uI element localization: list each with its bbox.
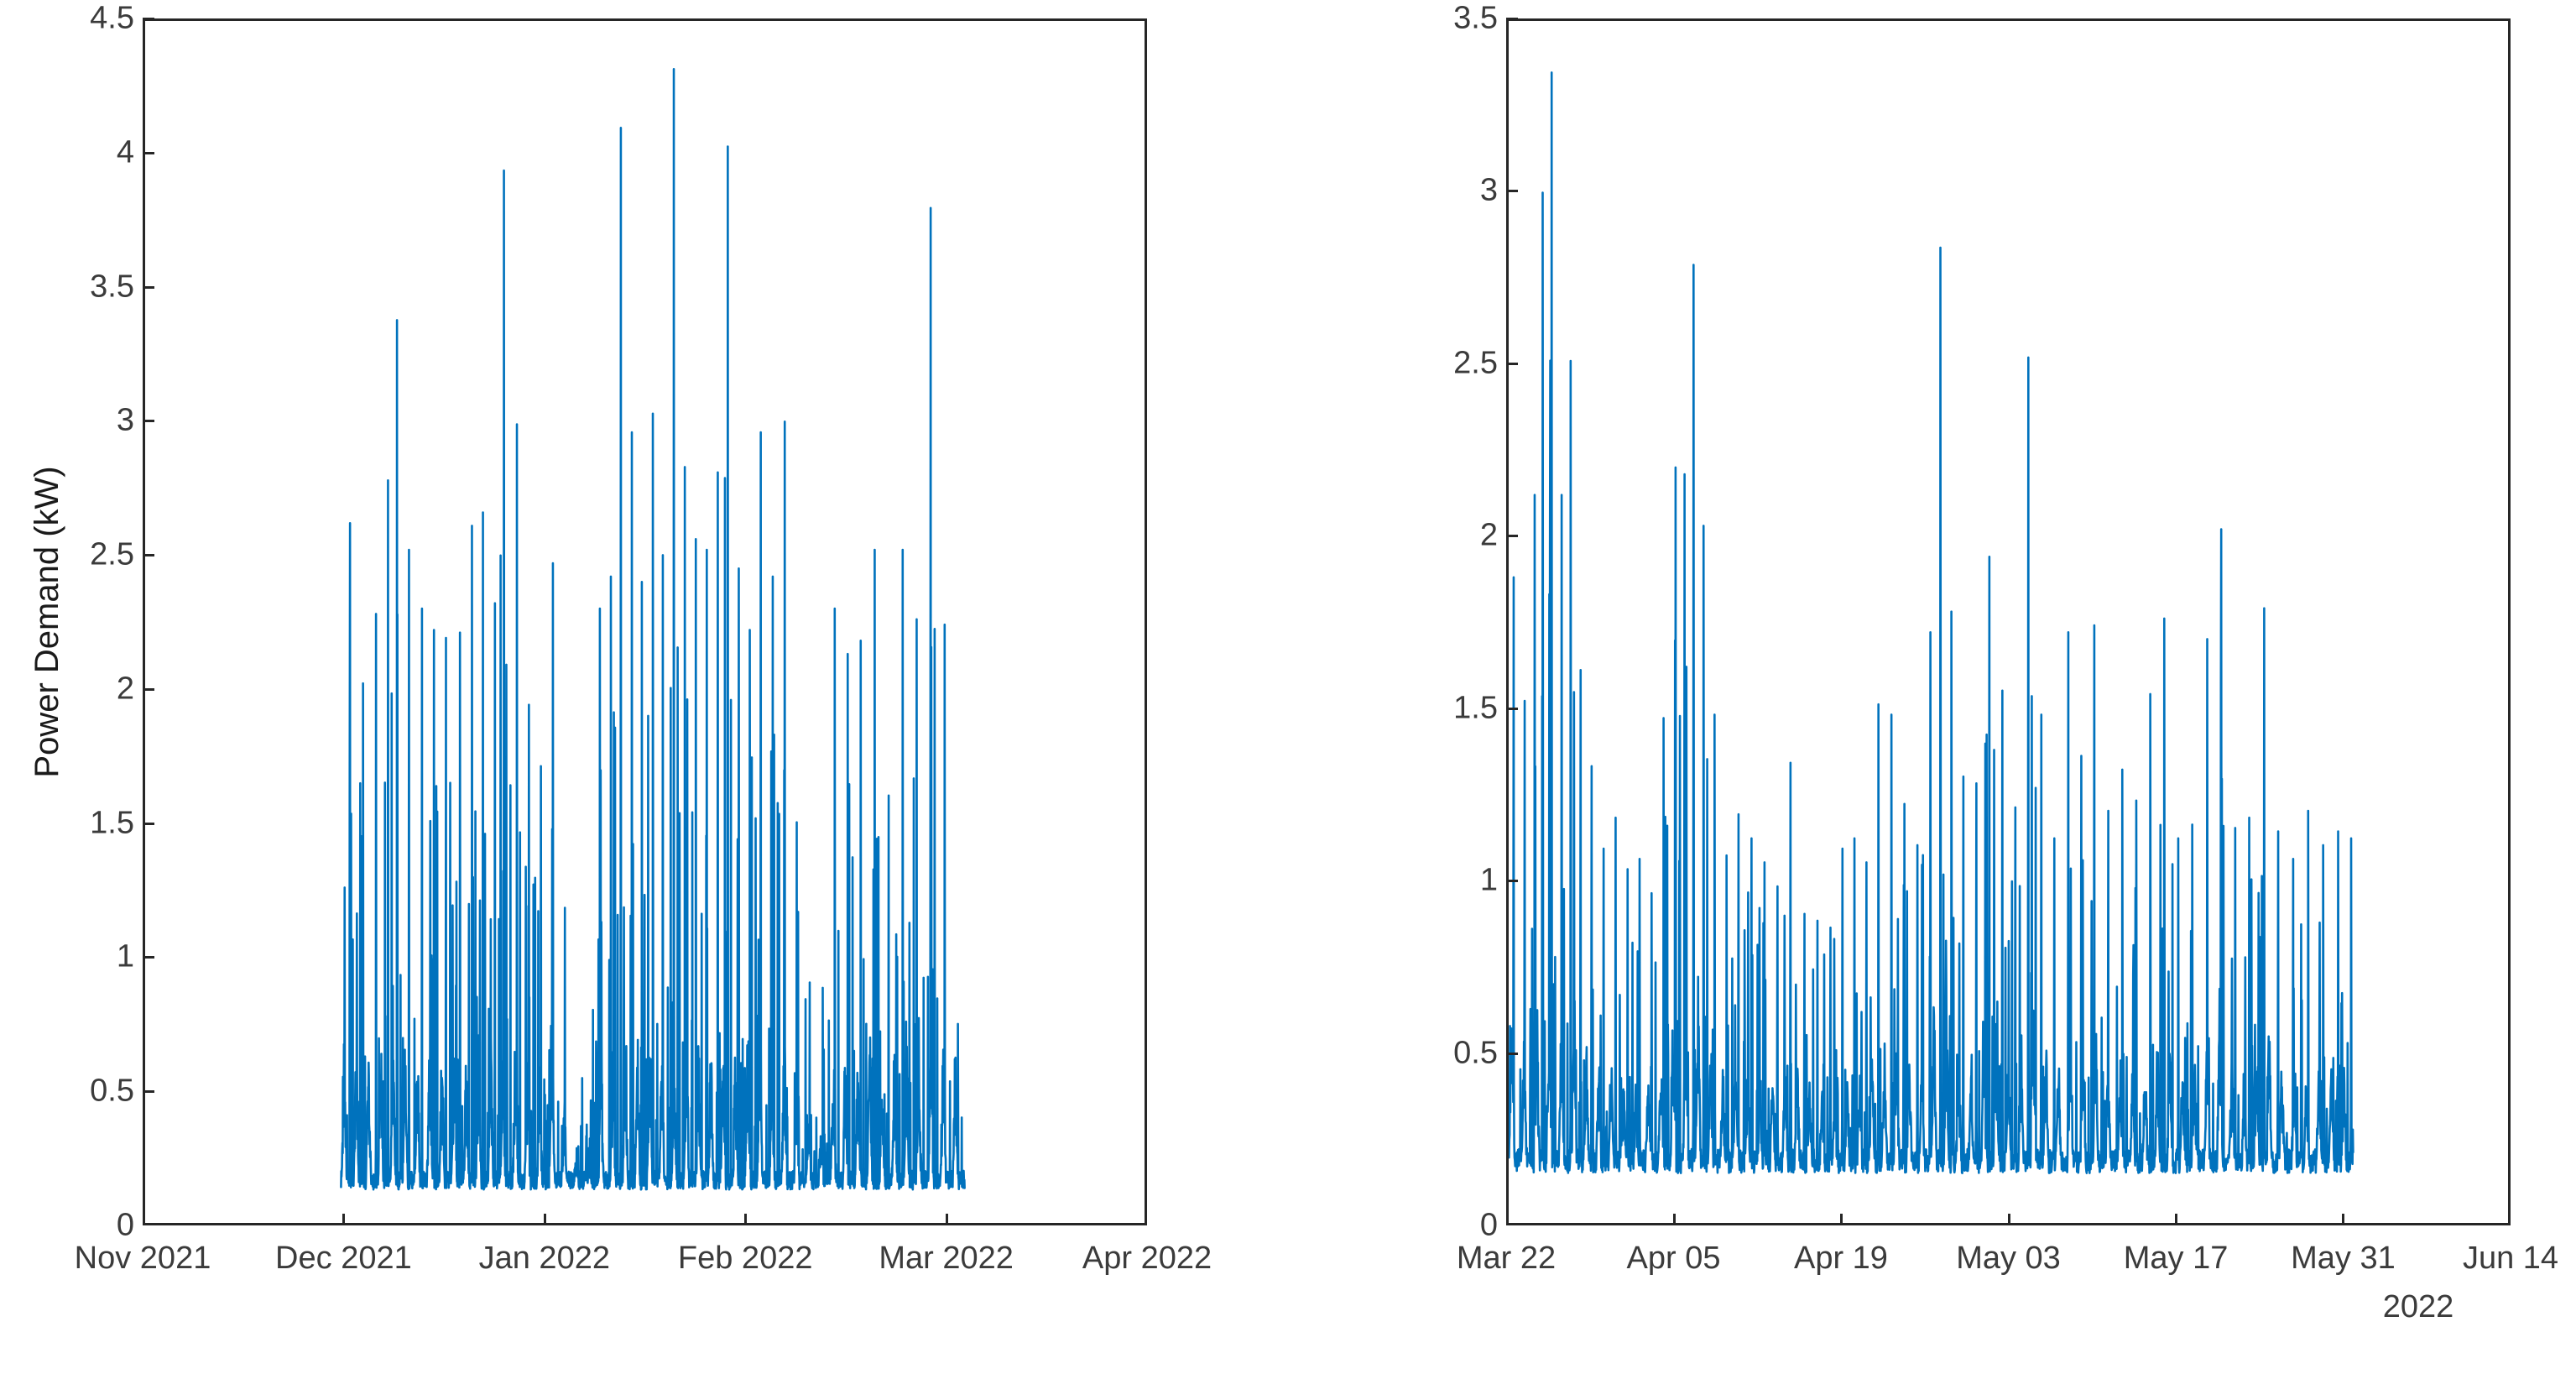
- chart-panel-right: 00.511.522.533.5 Mar 22Apr 05Apr 19May 0…: [1284, 0, 2576, 1374]
- y-tick-mark: [143, 286, 154, 289]
- series-line-left: [145, 21, 1145, 1223]
- x-tick-label: Jun 14: [2463, 1241, 2558, 1277]
- y-tick-label: 0: [1414, 1208, 1498, 1244]
- y-tick-mark: [1506, 880, 1518, 882]
- y-tick-mark: [1506, 363, 1518, 365]
- x-tick-mark: [946, 1214, 948, 1225]
- x-tick-label: Nov 2021: [75, 1241, 211, 1277]
- y-tick-label: 2.5: [50, 537, 134, 573]
- y-tick-label: 1: [50, 939, 134, 975]
- x-tick-mark: [1840, 1214, 1843, 1225]
- x-tick-label: Mar 2022: [879, 1241, 1014, 1277]
- y-tick-mark: [1506, 190, 1518, 192]
- y-tick-label: 3: [1414, 173, 1498, 209]
- y-tick-label: 3.5: [1414, 1, 1498, 37]
- y-tick-label: 4: [50, 134, 134, 170]
- x-tick-label: May 31: [2291, 1241, 2396, 1277]
- y-tick-label: 0.5: [1414, 1035, 1498, 1071]
- y-tick-label: 3.5: [50, 269, 134, 305]
- y-tick-label: 1.5: [50, 805, 134, 841]
- y-tick-mark: [143, 420, 154, 422]
- y-tick-mark: [143, 152, 154, 154]
- x-tick-mark: [2008, 1214, 2010, 1225]
- x-tick-label: May 17: [2124, 1241, 2229, 1277]
- y-tick-mark: [143, 688, 154, 691]
- y-tick-mark: [143, 823, 154, 825]
- y-tick-label: 1.5: [1414, 690, 1498, 726]
- y-tick-label: 1: [1414, 863, 1498, 899]
- x-tick-label: Mar 22: [1457, 1241, 1556, 1277]
- y-tick-mark: [143, 1090, 154, 1093]
- y-tick-label: 3: [50, 403, 134, 439]
- x-tick-label: Dec 2021: [275, 1241, 412, 1277]
- x-tick-label: Apr 19: [1794, 1241, 1888, 1277]
- y-axis-label: Power Demand (kW): [29, 466, 66, 777]
- series-line-right: [1509, 21, 2508, 1223]
- x-tick-label: Apr 2022: [1082, 1241, 1212, 1277]
- x-tick-mark: [2342, 1214, 2344, 1225]
- plot-area-right: [1506, 18, 2511, 1225]
- chart-panel-left: Power Demand (kW) 00.511.522.533.544.5 N…: [0, 0, 1284, 1374]
- y-tick-label: 2: [50, 671, 134, 707]
- x-axis-year-label: 2022: [2383, 1289, 2454, 1325]
- x-tick-mark: [1673, 1214, 1676, 1225]
- y-tick-mark: [143, 18, 154, 20]
- x-tick-label: May 03: [1956, 1241, 2061, 1277]
- y-tick-label: 2.5: [1414, 345, 1498, 381]
- y-tick-label: 0: [50, 1208, 134, 1244]
- figure-root: Power Demand (kW) 00.511.522.533.544.5 N…: [0, 0, 2576, 1374]
- y-tick-label: 4.5: [50, 1, 134, 37]
- y-tick-label: 0.5: [50, 1074, 134, 1110]
- y-tick-label: 2: [1414, 518, 1498, 554]
- x-tick-mark: [744, 1214, 747, 1225]
- x-tick-label: Feb 2022: [678, 1241, 813, 1277]
- x-tick-mark: [342, 1214, 345, 1225]
- y-tick-mark: [1506, 535, 1518, 537]
- y-tick-mark: [1506, 18, 1518, 20]
- x-tick-label: Jan 2022: [479, 1241, 610, 1277]
- y-tick-mark: [143, 554, 154, 556]
- plot-area-left: [143, 18, 1147, 1225]
- y-tick-mark: [1506, 708, 1518, 710]
- y-tick-mark: [1506, 1053, 1518, 1055]
- x-tick-mark: [544, 1214, 546, 1225]
- y-tick-mark: [143, 956, 154, 959]
- x-tick-label: Apr 05: [1627, 1241, 1721, 1277]
- x-tick-mark: [2175, 1214, 2177, 1225]
